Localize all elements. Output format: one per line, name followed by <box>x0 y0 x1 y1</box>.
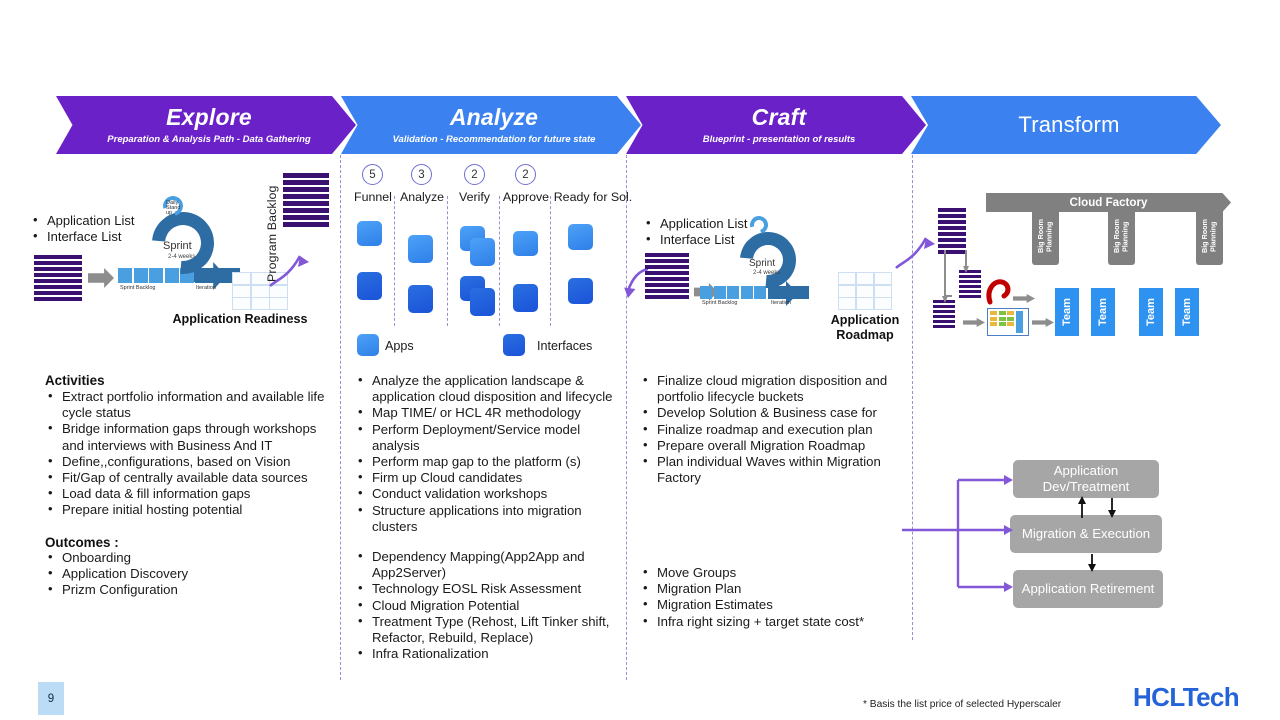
page-number: 9 <box>38 682 64 715</box>
analyze-bullets-top: Analyze the application landscape & appl… <box>355 373 623 535</box>
explore-daily-standup-label: Daily Stand up <box>166 201 188 216</box>
list-item: Application Discovery <box>45 566 335 582</box>
list-item: Define,,configurations, based on Vision <box>45 454 335 470</box>
funnel-badge-2: 2 <box>464 164 485 185</box>
explore-caption: Application Readiness <box>150 312 330 327</box>
ready-tile-app[interactable] <box>568 224 593 250</box>
divider-explore-analyze <box>340 155 341 680</box>
craft-backlog-label: Sprint Backlog <box>702 300 737 306</box>
funnel-lane-divider-0 <box>394 196 395 326</box>
funnel-badge-0: 5 <box>362 164 383 185</box>
big-room-planning-0: Big Room Planning <box>1032 208 1059 265</box>
list-item: Prizm Configuration <box>45 582 335 598</box>
list-item: Map TIME/ or HCL 4R methodology <box>355 405 623 421</box>
craft-sprint-label: Sprint <box>749 258 775 269</box>
phase-chevron-explore[interactable]: Explore Preparation & Analysis Path - Da… <box>56 96 356 154</box>
phase-chevron-analyze[interactable]: Analyze Validation - Recommendation for … <box>341 96 641 154</box>
list-item: Application List <box>643 216 793 232</box>
explore-sprint-duration: 2-4 weeks <box>168 254 195 260</box>
list-item: Prepare overall Migration Roadmap <box>640 438 910 454</box>
list-item: Develop Solution & Business case for <box>640 405 910 421</box>
activities-heading: Activities <box>45 373 105 388</box>
craft-bullets-bottom: Move Groups Migration Plan Migration Est… <box>640 565 910 630</box>
explore-purple-arrow-icon <box>266 240 326 290</box>
ready-tile-interface[interactable] <box>568 278 593 304</box>
explore-outcomes-list: Onboarding Application Discovery Prizm C… <box>45 550 335 599</box>
list-item: Onboarding <box>45 550 335 566</box>
explore-input-stack-icon <box>34 255 82 301</box>
phase-subtitle-explore: Preparation & Analysis Path - Data Gathe… <box>107 134 310 145</box>
list-item: Prepare initial hosting potential <box>45 502 335 518</box>
funnel-column-label-4[interactable]: Ready for Sol. <box>553 190 633 204</box>
craft-iteration-label: Iteration <box>771 300 791 306</box>
list-item: Fit/Gap of centrally available data sour… <box>45 470 335 486</box>
craft-caption: Application Roadmap <box>800 313 930 342</box>
craft-sprint-backlog-cells <box>700 286 766 299</box>
funnel-lane-divider-1 <box>447 196 448 326</box>
phase-chevron-craft[interactable]: Craft Blueprint - presentation of result… <box>626 96 926 154</box>
big-room-planning-1: Big Room Planning <box>1108 208 1135 265</box>
team-box-0: Team <box>1055 288 1079 336</box>
process-box-label-2: Application Retirement <box>1022 581 1155 598</box>
analyze-bullets-bottom: Dependency Mapping(App2App and App2Serve… <box>355 549 623 662</box>
list-item: Migration Estimates <box>640 597 910 613</box>
list-item: Move Groups <box>640 565 910 581</box>
craft-caption-line2: Roadmap <box>836 328 893 342</box>
funnel-lane-divider-2 <box>499 196 500 326</box>
list-item: Infra right sizing + target state cost* <box>640 614 910 630</box>
transform-kanban-board-icon <box>987 308 1029 336</box>
divider-analyze-craft <box>626 155 627 680</box>
legend-swatch-apps <box>357 334 379 356</box>
team-box-1: Team <box>1091 288 1115 336</box>
list-item: Migration Plan <box>640 581 910 597</box>
funnel-column-label-2[interactable]: Verify <box>452 190 497 204</box>
analyze-tile-app[interactable] <box>408 235 433 263</box>
transform-sprint-loop-icon <box>984 274 1014 308</box>
approve-tile-app[interactable] <box>513 231 538 256</box>
explore-flow-arrow-icon <box>88 268 114 288</box>
legend-label-apps: Apps <box>385 339 414 353</box>
process-box-0[interactable]: Application Dev/Treatment <box>1013 460 1159 498</box>
craft-output-grid-icon <box>838 272 892 310</box>
funnel-badge-1: 3 <box>411 164 432 185</box>
funnel-column-label-3[interactable]: Approve <box>500 190 552 204</box>
list-item: Finalize roadmap and execution plan <box>640 422 910 438</box>
analyze-tile-interface[interactable] <box>408 285 433 313</box>
list-item: Dependency Mapping(App2App and App2Serve… <box>355 549 623 581</box>
process-box-vertical-arrows-icon <box>1070 496 1130 576</box>
funnel-tile-app[interactable] <box>357 221 382 246</box>
list-item: Technology EOSL Risk Assessment <box>355 581 623 597</box>
phase-subtitle-analyze: Validation - Recommendation for future s… <box>393 134 596 145</box>
list-item: Structure applications into migration cl… <box>355 503 623 535</box>
phase-title-craft: Craft <box>752 105 807 129</box>
list-item: Load data & fill information gaps <box>45 486 335 502</box>
list-item: Analyze the application landscape & appl… <box>355 373 623 405</box>
phase-title-transform: Transform <box>1018 113 1119 136</box>
explore-iteration-label: Iteration <box>196 285 216 291</box>
big-room-planning-2: Big Room Planning <box>1196 208 1223 265</box>
process-flow-arrows-icon <box>900 452 1020 617</box>
hcltech-logo: HCLTech <box>1133 682 1239 713</box>
slide-root: Explore Preparation & Analysis Path - Da… <box>0 0 1280 720</box>
funnel-tile-interface[interactable] <box>357 272 382 300</box>
phase-chevron-transform[interactable]: Transform <box>911 96 1221 154</box>
list-item: Cloud Migration Potential <box>355 598 623 614</box>
craft-sprint-duration: 2-4 weeks <box>753 270 780 276</box>
transform-arrow-to-team-2 <box>1032 318 1054 327</box>
phase-title-analyze: Analyze <box>450 105 538 129</box>
list-item: Treatment Type (Rehost, Lift Tinker shif… <box>355 614 623 646</box>
explore-activities-list: Extract portfolio information and availa… <box>45 389 335 519</box>
funnel-badge-3: 2 <box>515 164 536 185</box>
craft-input-stack-icon <box>645 253 689 299</box>
verify-tile-interface-2[interactable] <box>470 288 495 316</box>
transform-arrow-to-team-1 <box>1013 294 1035 303</box>
phase-banner: Explore Preparation & Analysis Path - Da… <box>0 96 1280 154</box>
logo-tech-text: Tech <box>1183 682 1239 712</box>
craft-caption-line1: Application <box>831 313 900 327</box>
legend-label-interfaces: Interfaces <box>537 339 592 353</box>
list-item: Bridge information gaps through workshop… <box>45 421 335 453</box>
list-item: Perform Deployment/Service model analysi… <box>355 422 623 454</box>
explore-sprint-label: Sprint <box>163 240 192 252</box>
outcomes-heading: Outcomes : <box>45 535 119 550</box>
list-item: Conduct validation workshops <box>355 486 623 502</box>
legend-swatch-interfaces <box>503 334 525 356</box>
footnote: * Basis the list price of selected Hyper… <box>863 699 1061 710</box>
team-box-2: Team <box>1139 288 1163 336</box>
list-item: Plan individual Waves within Migration F… <box>640 454 910 486</box>
list-item: Extract portfolio information and availa… <box>45 389 335 421</box>
list-item: Firm up Cloud candidates <box>355 470 623 486</box>
approve-tile-interface[interactable] <box>513 284 538 312</box>
list-item: Perform map gap to the platform (s) <box>355 454 623 470</box>
phase-subtitle-craft: Blueprint - presentation of results <box>703 134 856 145</box>
craft-bullets-top: Finalize cloud migration disposition and… <box>640 373 910 486</box>
process-box-label-0: Application Dev/Treatment <box>1013 463 1159 496</box>
funnel-column-label-1[interactable]: Analyze <box>398 190 446 204</box>
transform-connector-arrows-icon <box>930 248 990 318</box>
phase-title-explore: Explore <box>166 105 252 129</box>
transform-arrow-to-kanban <box>963 318 985 327</box>
list-item: Finalize cloud migration disposition and… <box>640 373 910 405</box>
team-box-3: Team <box>1175 288 1199 336</box>
explore-backlog-label: Sprint Backlog <box>120 285 155 291</box>
logo-hcl-text: HCL <box>1133 682 1183 712</box>
funnel-column-label-0[interactable]: Funnel <box>350 190 396 204</box>
explore-program-backlog-stack-icon <box>283 173 329 227</box>
list-item: Infra Rationalization <box>355 646 623 662</box>
funnel-lane-divider-3 <box>550 196 551 326</box>
verify-tile-app-2[interactable] <box>470 238 495 266</box>
